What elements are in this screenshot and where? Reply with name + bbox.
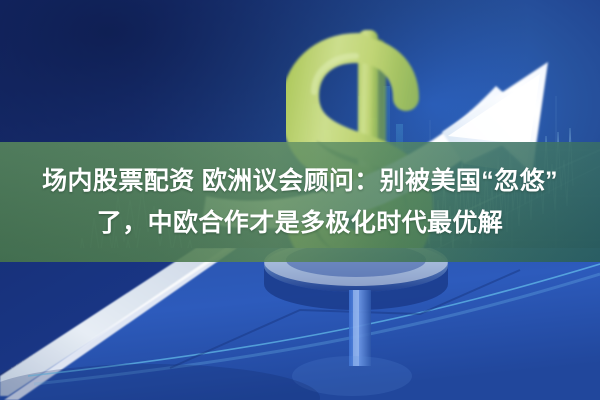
platform-3d-graphic xyxy=(0,248,600,400)
article-banner: 场内股票配资 欧洲议会顾问：别被美国“忽悠” 了，中欧合作才是多极化时代最优解 xyxy=(0,0,600,400)
headline-line-1: 场内股票配资 欧洲议会顾问：别被美国“忽悠” xyxy=(42,161,558,201)
headline-line-2: 了，中欧合作才是多极化时代最优解 xyxy=(97,203,503,243)
headline: 场内股票配资 欧洲议会顾问：别被美国“忽悠” 了，中欧合作才是多极化时代最优解 xyxy=(0,142,600,262)
